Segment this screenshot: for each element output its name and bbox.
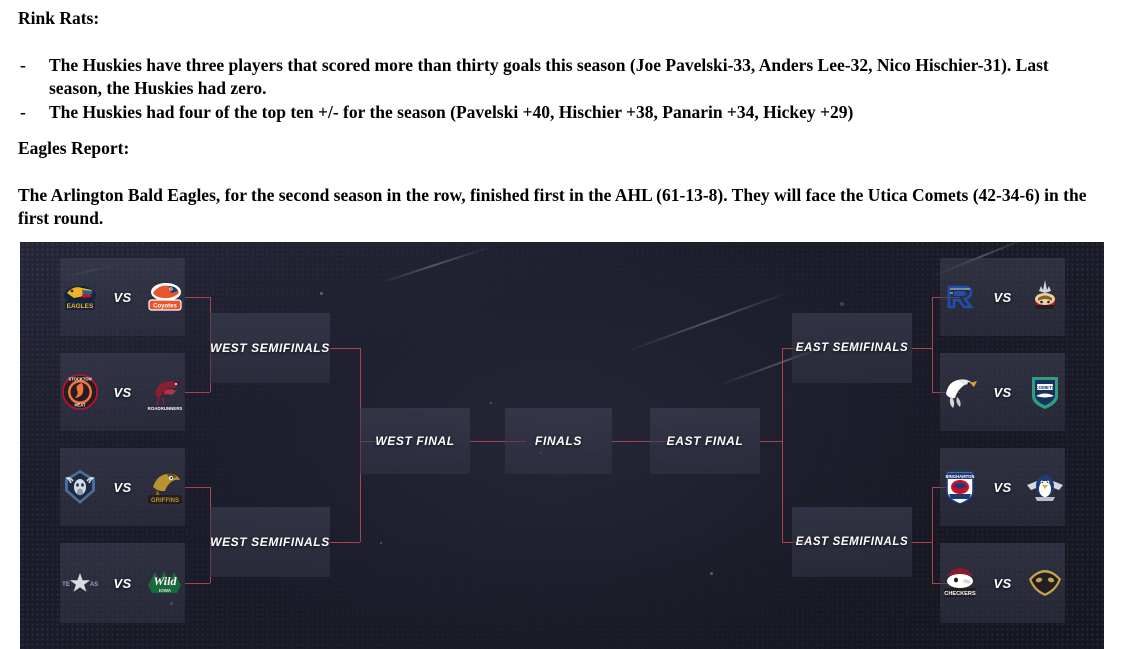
round-label: EAST FINAL (667, 434, 744, 448)
lehigh-valley-phantoms-logo (1025, 563, 1065, 603)
bullet-dash: - (20, 54, 26, 77)
rink-rats-bullet-list: - The Huskies have three players that sc… (18, 54, 1103, 124)
speck (490, 402, 492, 404)
svg-text:BINGHAMTON: BINGHAMTON (945, 474, 974, 479)
matchup-east-1[interactable]: VS (940, 258, 1065, 336)
svg-text:EAGLES: EAGLES (66, 303, 93, 310)
bracket-connector (185, 583, 210, 584)
svg-text:AS: AS (89, 582, 97, 588)
speck (380, 542, 382, 544)
article-body: Rink Rats: - The Huskies have three play… (18, 8, 1103, 231)
round-label: WEST SEMIFINALS (210, 535, 330, 549)
bracket-connector (330, 542, 360, 543)
vs-label: VS (114, 385, 132, 400)
light-streak (625, 289, 795, 352)
round-label: WEST SEMIFINALS (210, 341, 330, 355)
vs-label: VS (994, 576, 1012, 591)
charlotte-checkers-logo: CHECKERS (940, 563, 980, 603)
round-west-semifinals-top[interactable]: WEST SEMIFINALS (210, 313, 330, 383)
matchup-west-3[interactable]: VS GRIFFINS (60, 448, 185, 526)
bracket-connector (912, 542, 932, 543)
belleville-senators-logo (1025, 277, 1065, 317)
round-label: FINALS (535, 434, 582, 448)
eagles-report-paragraph: The Arlington Bald Eagles, for the secon… (18, 184, 1103, 231)
grand-rapids-griffins-logo: GRIFFINS (145, 467, 185, 507)
svg-text:COMETS: COMETS (1036, 385, 1056, 390)
svg-text:ROADRUNNERS: ROADRUNNERS (148, 406, 183, 411)
bracket-connector (932, 487, 933, 583)
list-item-text: The Huskies have three players that scor… (49, 55, 1049, 98)
playoff-bracket-image: EAGLES VS Coyotes (20, 242, 1104, 649)
matchup-east-3[interactable]: BINGHAMTON VS (940, 448, 1065, 526)
bracket-connector (912, 348, 932, 349)
vs-label: VS (114, 480, 132, 495)
matchup-west-2[interactable]: STOCKTON HEAT VS ROADRUNNERS (60, 353, 185, 431)
round-east-semifinals-bottom[interactable]: EAST SEMIFINALS (792, 507, 912, 577)
bracket-connector (185, 297, 210, 298)
matchup-east-4[interactable]: CHECKERS VS (940, 543, 1065, 623)
round-label: EAST SEMIFINALS (796, 342, 909, 354)
vs-label: VS (994, 385, 1012, 400)
page-root: Rink Rats: - The Huskies have three play… (0, 0, 1125, 649)
tucson-roadrunners-logo: ROADRUNNERS (145, 372, 185, 412)
iowa-wild-logo: Wild IOWA (145, 563, 185, 603)
list-item: - The Huskies have three players that sc… (18, 54, 1103, 100)
speck (710, 572, 713, 575)
round-label: EAST SEMIFINALS (796, 536, 909, 548)
stockton-heat-logo: STOCKTON HEAT (60, 372, 100, 412)
bracket-connector (760, 441, 782, 442)
light-streak (378, 245, 493, 284)
list-item-text: The Huskies had four of the top ten +/- … (49, 102, 853, 122)
wilkes-barre-penguins-logo (1025, 467, 1065, 507)
svg-text:Coyotes: Coyotes (154, 304, 178, 310)
vs-label: VS (994, 480, 1012, 495)
round-east-final[interactable]: EAST FINAL (650, 408, 760, 474)
vs-label: VS (994, 290, 1012, 305)
matchup-west-4[interactable]: TE AS VS Wild IOWA (60, 543, 185, 623)
vs-label: VS (114, 290, 132, 305)
rink-rats-heading: Rink Rats: (18, 8, 1103, 28)
vs-label: VS (114, 576, 132, 591)
svg-text:CHECKERS: CHECKERS (944, 591, 976, 597)
round-finals[interactable]: FINALS (505, 408, 612, 474)
svg-text:TE: TE (62, 582, 70, 588)
bracket-connector (185, 392, 210, 393)
bracket-connector (185, 487, 210, 488)
round-west-final[interactable]: WEST FINAL (360, 408, 470, 474)
binghamton-devils-logo: BINGHAMTON (940, 467, 980, 507)
bullet-dash: - (20, 101, 26, 124)
speck (320, 292, 323, 295)
laval-rocket-logo (940, 277, 980, 317)
list-item: - The Huskies had four of the top ten +/… (18, 101, 1103, 124)
matchup-east-2[interactable]: VS COMETS (940, 353, 1065, 431)
colorado-eagles-logo: EAGLES (60, 277, 100, 317)
speck (840, 302, 844, 306)
texas-stars-logo: TE AS (60, 563, 100, 603)
tucson-roadrunners-logo: Coyotes (145, 277, 185, 317)
svg-text:GRIFFINS: GRIFFINS (151, 498, 179, 504)
bracket-connector (932, 297, 933, 392)
svg-text:IOWA: IOWA (159, 588, 172, 593)
round-east-semifinals-top[interactable]: EAST SEMIFINALS (792, 313, 912, 383)
svg-text:STOCKTON: STOCKTON (68, 377, 91, 382)
svg-text:HEAT: HEAT (74, 403, 86, 408)
utica-comets-logo: COMETS (1025, 372, 1065, 412)
arlington-bald-eagles-logo (940, 372, 980, 412)
matchup-west-1[interactable]: EAGLES VS Coyotes (60, 258, 185, 336)
eagles-report-heading: Eagles Report: (18, 138, 1103, 158)
manitoba-moose-logo (60, 467, 100, 507)
round-label: WEST FINAL (375, 434, 454, 448)
bracket-connector (330, 348, 360, 349)
bracket-connector (782, 348, 783, 542)
svg-text:Wild: Wild (154, 574, 178, 588)
round-west-semifinals-bottom[interactable]: WEST SEMIFINALS (210, 507, 330, 577)
